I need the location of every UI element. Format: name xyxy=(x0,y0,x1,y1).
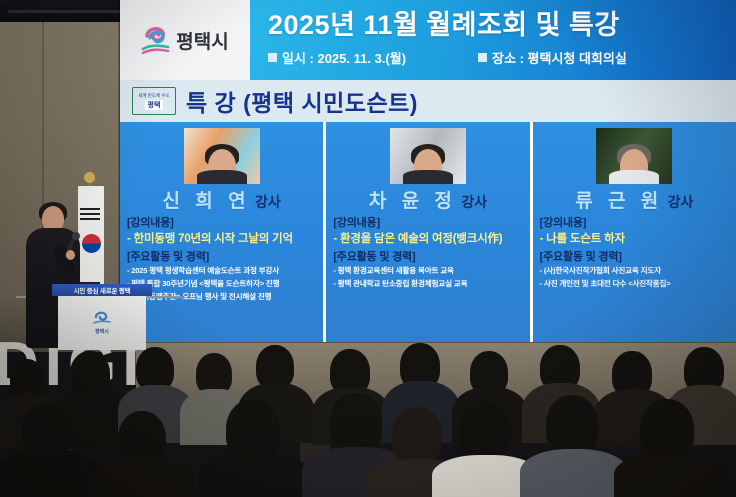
event-date-text: 일시 : 2025. 11. 3.(월) xyxy=(282,48,406,67)
portrait-cha-yoon-jeong xyxy=(390,128,466,184)
stage-rail xyxy=(146,296,182,298)
career-item: - 평택 환경교육센터 새활용 북아트 교육 xyxy=(333,264,522,277)
career-item: - 사진 개인전 및 초대전 다수 <사진작품집> xyxy=(540,277,729,290)
audience-head xyxy=(392,407,442,465)
flag-finial xyxy=(84,172,95,183)
shoulders-shape xyxy=(403,170,453,184)
career-item: - 평택 관내학교 탄소중립 환경체험교실 교육 xyxy=(333,277,522,290)
lecture-content-label: [강의내용] xyxy=(127,214,316,230)
flag-taeguk-icon xyxy=(82,234,101,253)
career-item: - 2025 평택 평생학습센터 예술도슨트 과정 부강사 xyxy=(127,264,316,277)
audience-head xyxy=(640,399,694,461)
speaker-name-row: 신 희 연 강사 xyxy=(120,186,323,213)
speaker-role: 강사 xyxy=(461,194,487,210)
slide-title-bar: 세계 반도체 수도 평택 특 강 (평택 시민도슨트) xyxy=(120,80,736,122)
pyeongtaek-swirl-logo-icon xyxy=(93,310,111,326)
lecture-topic: - 한미동맹 70년의 시작 그날의 기억 xyxy=(127,230,316,246)
semiconductor-capital-stamp-icon: 세계 반도체 수도 평택 xyxy=(132,87,176,115)
projection-screen: 평택시 2025년 11월 월례조회 및 특강 일시 : 2025. 11. 3… xyxy=(120,0,736,342)
career-item: - (사)한국사진작가협회 사진교육 지도자 xyxy=(540,264,729,277)
career-list: - (사)한국사진작가협회 사진교육 지도자 - 사진 개인전 및 초대전 다수… xyxy=(540,264,729,290)
audience-shoulders xyxy=(94,457,194,497)
pyeongtaek-swirl-logo-icon xyxy=(141,23,171,57)
slide-title: 특 강 (평택 시민도슨트) xyxy=(186,84,418,118)
speaker-role: 강사 xyxy=(255,194,281,210)
career-label: [주요활동 및 경력] xyxy=(540,248,729,264)
career-label: [주요활동 및 경력] xyxy=(127,248,316,264)
speaker-panels: 신 희 연 강사 [강의내용] - 한미동맹 70년의 시작 그날의 기억 [주… xyxy=(120,122,736,342)
speaker-name-row: 차 윤 정 강사 xyxy=(326,186,529,213)
audience-shoulders xyxy=(0,449,100,497)
event-meta: 일시 : 2025. 11. 3.(월) 장소 : 평택시청 대회의실 xyxy=(268,48,627,67)
event-date: 일시 : 2025. 11. 3.(월) xyxy=(268,48,406,67)
audience-head xyxy=(330,393,382,453)
slide-header-banner: 2025년 11월 월례조회 및 특강 일시 : 2025. 11. 3.(월)… xyxy=(250,0,736,80)
career-label: [주요활동 및 경력] xyxy=(333,248,522,264)
speaker-card: 류 근 원 강사 [강의내용] - 나를 도슨트 하자 [주요활동 및 경력] … xyxy=(533,122,736,342)
speaker-name: 신 희 연 xyxy=(163,191,251,212)
lecture-content-label: [강의내용] xyxy=(333,214,522,230)
podium-emblem-text: 평택시 xyxy=(95,328,109,335)
shoulders-shape xyxy=(197,170,247,184)
city-logo-block: 평택시 xyxy=(120,0,250,80)
stamp-line-1: 세계 반도체 수도 xyxy=(138,93,169,99)
career-list: - 평택 환경교육센터 새활용 북아트 교육 - 평택 관내학교 탄소중립 환경… xyxy=(333,264,522,290)
career-item: - 평택 통합 30주년기념 <평택을 도슨트하자> 진행 xyxy=(127,277,316,290)
audience xyxy=(0,337,736,497)
shoulders-shape xyxy=(609,170,659,184)
lecture-topic: - 환경을 담은 예술의 여정(뱅크시作) xyxy=(333,230,522,246)
speaker-name: 류 근 원 xyxy=(575,191,663,212)
stamp-line-2: 평택 xyxy=(145,100,164,110)
speaker-card: 차 윤 정 강사 [강의내용] - 환경을 담은 예술의 여정(뱅크시作) [주… xyxy=(326,122,529,342)
portrait-shin-hee-yeon xyxy=(184,128,260,184)
city-logo-text: 평택시 xyxy=(176,27,228,54)
event-venue: 장소 : 평택시청 대회의실 xyxy=(478,48,627,67)
podium-slogan: 시민 중심 새로운 평택 xyxy=(52,284,152,296)
audience-head xyxy=(546,395,598,455)
audience-head xyxy=(458,401,510,461)
speaker-role: 강사 xyxy=(668,194,694,210)
speaker-card: 신 희 연 강사 [강의내용] - 한미동맹 70년의 시작 그날의 기억 [주… xyxy=(120,122,323,342)
event-title: 2025년 11월 월례조회 및 특강 xyxy=(268,3,620,42)
audience-shoulders xyxy=(198,453,310,497)
lecture-content-label: [강의내용] xyxy=(540,214,729,230)
microphone-head-icon xyxy=(72,232,80,240)
audience-shoulders xyxy=(520,449,628,497)
conference-room-photo: DIGI 평택시 2025년 11월 월례조회 및 특강 xyxy=(0,0,736,497)
speaker-name: 차 윤 정 xyxy=(369,191,457,212)
presenter-hand xyxy=(66,250,75,260)
audience-shoulders xyxy=(614,453,726,497)
event-venue-text: 장소 : 평택시청 대회의실 xyxy=(492,48,627,67)
audience-head xyxy=(226,399,280,461)
slide-header: 평택시 2025년 11월 월례조회 및 특강 일시 : 2025. 11. 3… xyxy=(120,0,736,80)
speaker-name-row: 류 근 원 강사 xyxy=(533,186,736,213)
bullet-square-icon xyxy=(478,53,487,62)
portrait-ryu-geun-won xyxy=(596,128,672,184)
podium-city-emblem: 평택시 xyxy=(89,310,115,340)
bullet-square-icon xyxy=(268,53,277,62)
ceiling-rail xyxy=(8,10,136,13)
lecture-topic: - 나를 도슨트 하자 xyxy=(540,230,729,246)
